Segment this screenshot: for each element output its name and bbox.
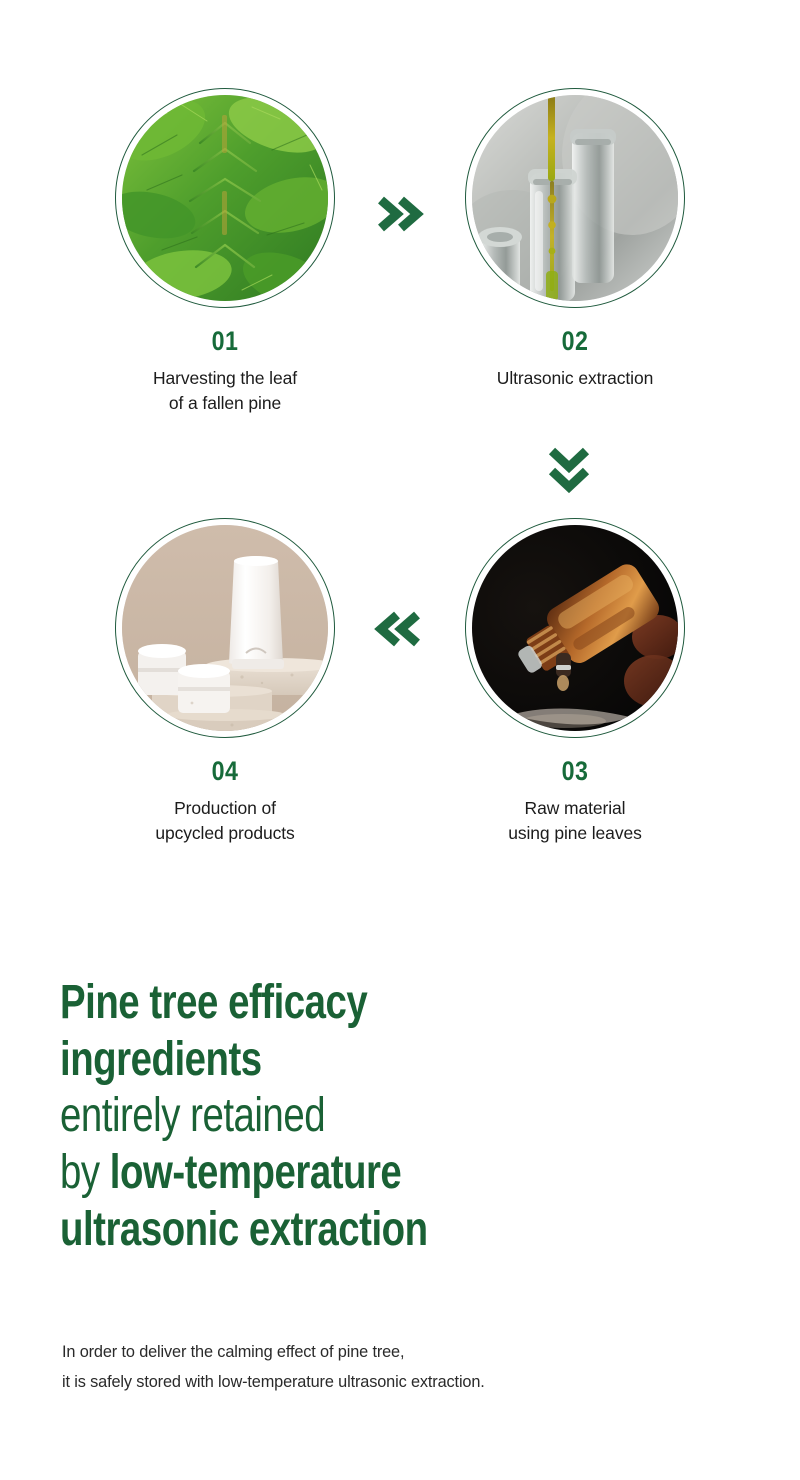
step-03-label-line2: using pine leaves (508, 823, 642, 843)
step-04-label: Production of upcycled products (75, 796, 375, 846)
step-04-label-line1: Production of (174, 798, 276, 818)
chevron-left-double-icon (371, 601, 427, 662)
headline-line-5: ultrasonic extraction (60, 1202, 620, 1259)
headline-line-1: Pine tree efficacy (60, 975, 620, 1032)
step-02-label-line1: Ultrasonic extraction (497, 368, 653, 388)
chevron-right-double-icon (371, 186, 427, 247)
step-02-label: Ultrasonic extraction (425, 366, 725, 391)
body-copy: In order to deliver the calming effect o… (62, 1337, 762, 1397)
step-04-number: 04 (96, 758, 354, 785)
step-02-image-circle (465, 88, 685, 308)
step-04-ring-border (115, 518, 335, 738)
headline-block: Pine tree efficacy ingredients entirely … (60, 975, 760, 1258)
headline-line-2: ingredients (60, 1032, 620, 1089)
step-01-ring-border (115, 88, 335, 308)
body-copy-line-2: it is safely stored with low-temperature… (62, 1367, 734, 1397)
step-03-number: 03 (446, 758, 704, 785)
body-copy-line-1: In order to deliver the calming effect o… (62, 1337, 734, 1367)
step-03-image-circle (465, 518, 685, 738)
process-step-04: 04 Production of upcycled products (75, 518, 375, 846)
chevron-down-double-icon (541, 441, 597, 502)
step-03-label: Raw material using pine leaves (425, 796, 725, 846)
step-01-label-line2: of a fallen pine (169, 393, 281, 413)
process-step-02: 02 Ultrasonic extraction (425, 88, 725, 391)
process-step-03: 03 Raw material using pine leaves (425, 518, 725, 846)
step-02-ring-border (465, 88, 685, 308)
step-01-image-circle (115, 88, 335, 308)
step-01-number: 01 (96, 328, 354, 355)
step-02-number: 02 (446, 328, 704, 355)
headline-line-4: by low-temperature (60, 1145, 620, 1202)
step-04-label-line2: upcycled products (155, 823, 294, 843)
process-diagram: 01 Harvesting the leaf of a fallen pine (0, 0, 800, 930)
step-04-image-circle (115, 518, 335, 738)
step-03-label-line1: Raw material (525, 798, 626, 818)
step-01-label-line1: Harvesting the leaf (153, 368, 297, 388)
headline-line-4-bold: low-temperature (110, 1146, 402, 1199)
step-01-label: Harvesting the leaf of a fallen pine (75, 366, 375, 416)
step-03-ring-border (465, 518, 685, 738)
headline-line-4-light: by (60, 1146, 110, 1199)
process-step-01: 01 Harvesting the leaf of a fallen pine (75, 88, 375, 416)
headline-line-3: entirely retained (60, 1088, 620, 1145)
